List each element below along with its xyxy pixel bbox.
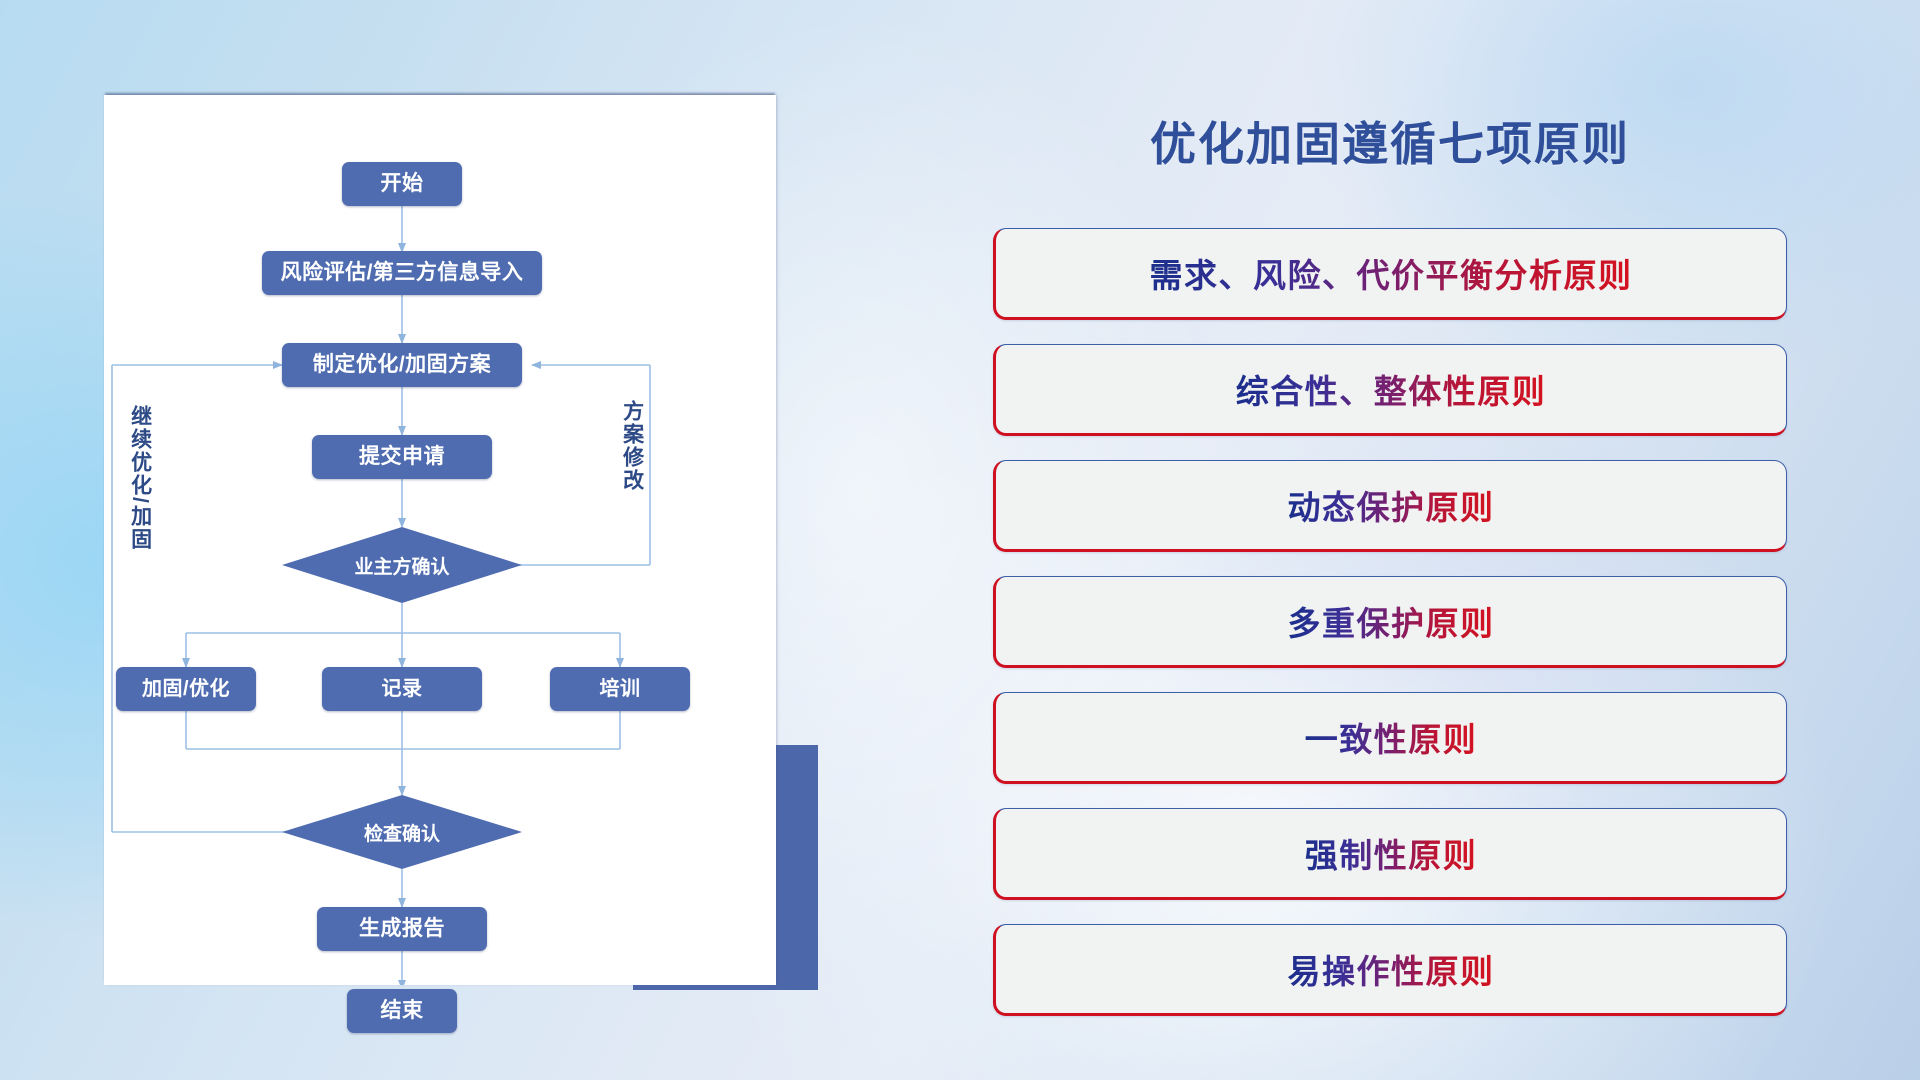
principle-card-7[interactable]: 易操作性原则 (993, 924, 1787, 1016)
flow-node-risk-assessment-label: 风险评估/第三方信息导入 (281, 261, 524, 284)
flow-node-reinforce-label: 加固/优化 (142, 678, 230, 700)
flow-node-record-label: 记录 (382, 678, 423, 700)
principle-card-6-label: 强制性原则 (1305, 829, 1478, 877)
flow-node-start[interactable]: 开始 (342, 162, 462, 206)
flow-node-submit-label: 提交申请 (359, 445, 445, 468)
principle-card-3-label: 动态保护原则 (1288, 481, 1495, 529)
flow-node-record[interactable]: 记录 (322, 667, 482, 711)
principle-card-7-label: 易操作性原则 (1288, 945, 1495, 993)
flow-node-check-confirm[interactable]: 检查确认 (282, 795, 522, 869)
principle-card-4-label: 多重保护原则 (1288, 597, 1495, 645)
principle-card-6[interactable]: 强制性原则 (993, 808, 1787, 900)
flow-node-end[interactable]: 结束 (347, 989, 457, 1033)
flow-node-owner-confirm-label: 业主方确认 (354, 552, 449, 579)
flow-node-report-label: 生成报告 (359, 917, 445, 940)
principle-card-3[interactable]: 动态保护原则 (993, 460, 1787, 552)
flowchart-card: 开始 风险评估/第三方信息导入 制定优化/加固方案 提交申请 业主方确认 加固/… (104, 95, 776, 985)
flow-node-start-label: 开始 (381, 172, 424, 195)
page-title: 优化加固遵循七项原则 (860, 108, 1920, 174)
principles-panel: 优化加固遵循七项原则 需求、风险、代价平衡分析原则 综合性、整体性原则 动态保护… (860, 0, 1920, 1080)
principle-card-1-label: 需求、风险、代价平衡分析原则 (1150, 249, 1633, 297)
flow-edge-label-continue-optimize-text: 继续优化/加固 (129, 405, 152, 551)
flow-node-check-confirm-label: 检查确认 (364, 819, 440, 846)
principle-card-2[interactable]: 综合性、整体性原则 (993, 344, 1787, 436)
flow-node-owner-confirm[interactable]: 业主方确认 (282, 527, 522, 603)
principle-card-4[interactable]: 多重保护原则 (993, 576, 1787, 668)
principle-card-5-label: 一致性原则 (1305, 713, 1478, 761)
flow-edge-label-continue-optimize: 继续优化/加固 (128, 405, 151, 551)
flow-node-risk-assessment[interactable]: 风险评估/第三方信息导入 (262, 251, 542, 295)
flow-edge-label-plan-revision: 方案修改 (620, 400, 643, 492)
flow-node-training-label: 培训 (600, 678, 641, 700)
principles-list: 需求、风险、代价平衡分析原则 综合性、整体性原则 动态保护原则 多重保护原则 一… (860, 228, 1920, 1040)
flow-node-plan[interactable]: 制定优化/加固方案 (282, 343, 522, 387)
flow-node-submit[interactable]: 提交申请 (312, 435, 492, 479)
flow-edge-label-plan-revision-text: 方案修改 (621, 400, 644, 492)
flowchart-panel: 开始 风险评估/第三方信息导入 制定优化/加固方案 提交申请 业主方确认 加固/… (0, 0, 860, 1080)
flow-node-end-label: 结束 (381, 999, 424, 1022)
flow-node-report[interactable]: 生成报告 (317, 907, 487, 951)
principle-card-1[interactable]: 需求、风险、代价平衡分析原则 (993, 228, 1787, 320)
flow-node-reinforce[interactable]: 加固/优化 (116, 667, 256, 711)
flow-node-plan-label: 制定优化/加固方案 (313, 353, 491, 376)
principle-card-2-label: 综合性、整体性原则 (1236, 365, 1547, 413)
principle-card-5[interactable]: 一致性原则 (993, 692, 1787, 784)
flow-node-training[interactable]: 培训 (550, 667, 690, 711)
